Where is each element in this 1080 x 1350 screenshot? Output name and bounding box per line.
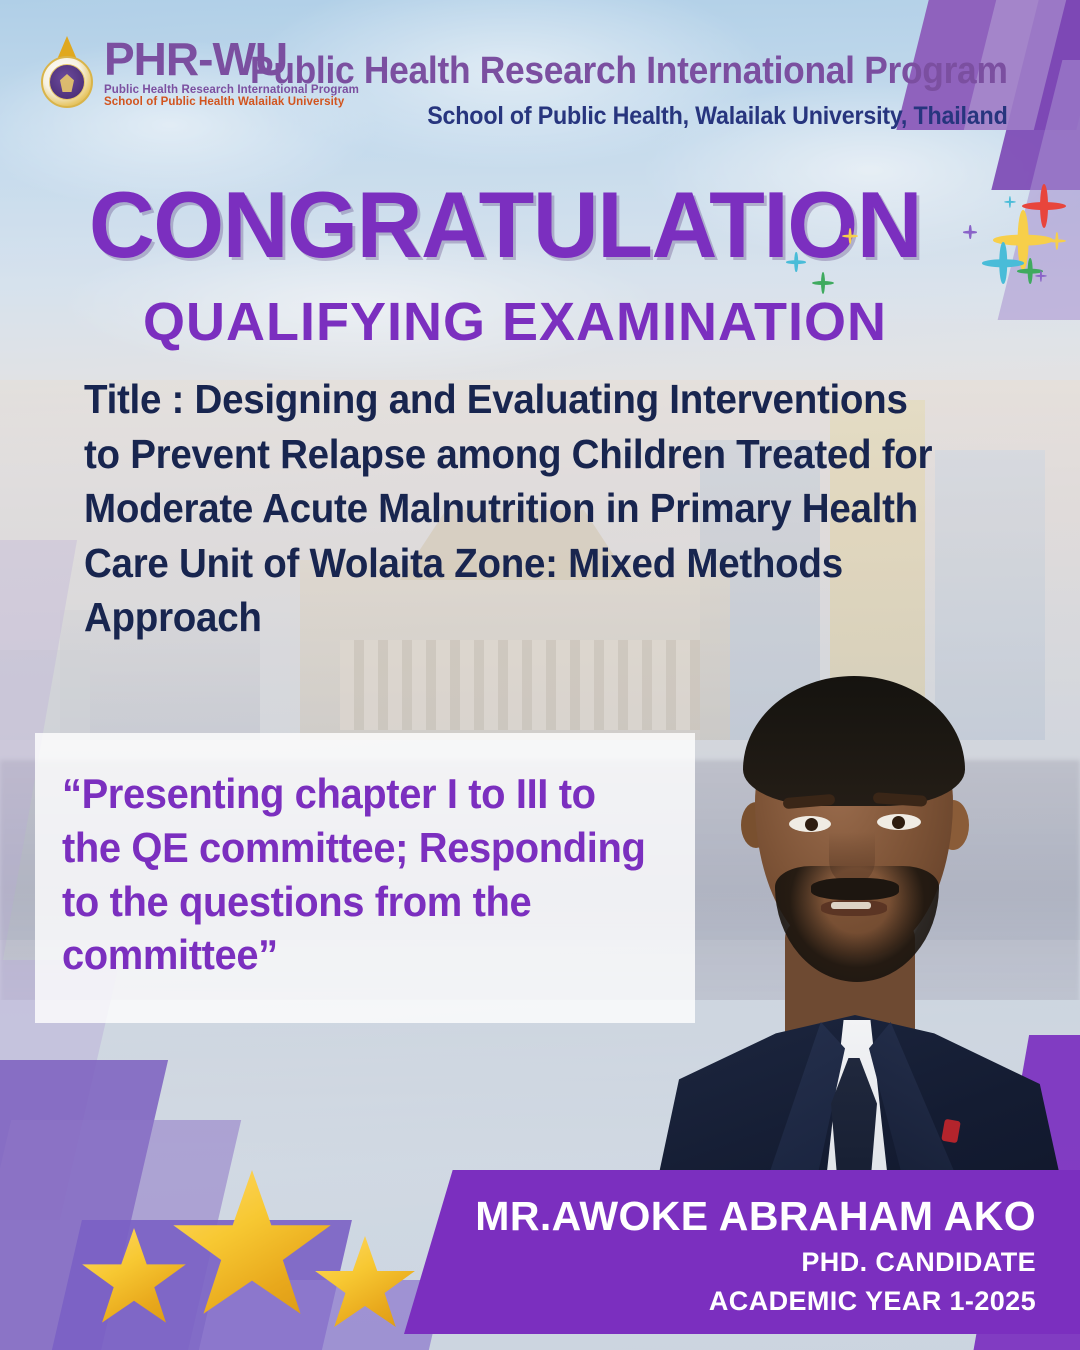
sparkle-icon [786, 252, 806, 272]
thai-royal-emblem-icon [38, 36, 96, 110]
candidate-name: MR.AWOKE ABRAHAM AKO [475, 1193, 1036, 1240]
candidate-portrait [625, 620, 1080, 1240]
sparkle-icon [1004, 196, 1016, 208]
sparkle-icon [1035, 270, 1047, 282]
program-title: Public Health Research International Pro… [250, 52, 1008, 92]
quote-text: “Presenting chapter I to III to the QE c… [62, 767, 651, 982]
candidate-role: PHD. CANDIDATE [801, 1247, 1036, 1278]
poster-root: PHR-WU Public Health Research Internatio… [0, 0, 1080, 1350]
poster-header: PHR-WU Public Health Research Internatio… [0, 0, 1080, 160]
header-titles: Public Health Research International Pro… [193, 52, 1008, 131]
sparkle-icon [1048, 232, 1066, 250]
congratulation-heading: CONGRATULATION [15, 178, 995, 272]
sparkle-icon [963, 225, 977, 239]
sparkle-icon [842, 228, 858, 244]
sparkle-icon [812, 272, 834, 294]
research-title: Title : Designing and Evaluating Interve… [84, 372, 939, 645]
examination-subheading: QUALIFYING EXAMINATION [0, 295, 1030, 349]
program-subtitle: School of Public Health, Walailak Univer… [250, 102, 1008, 131]
candidate-academic-year: ACADEMIC YEAR 1-2025 [709, 1286, 1036, 1317]
